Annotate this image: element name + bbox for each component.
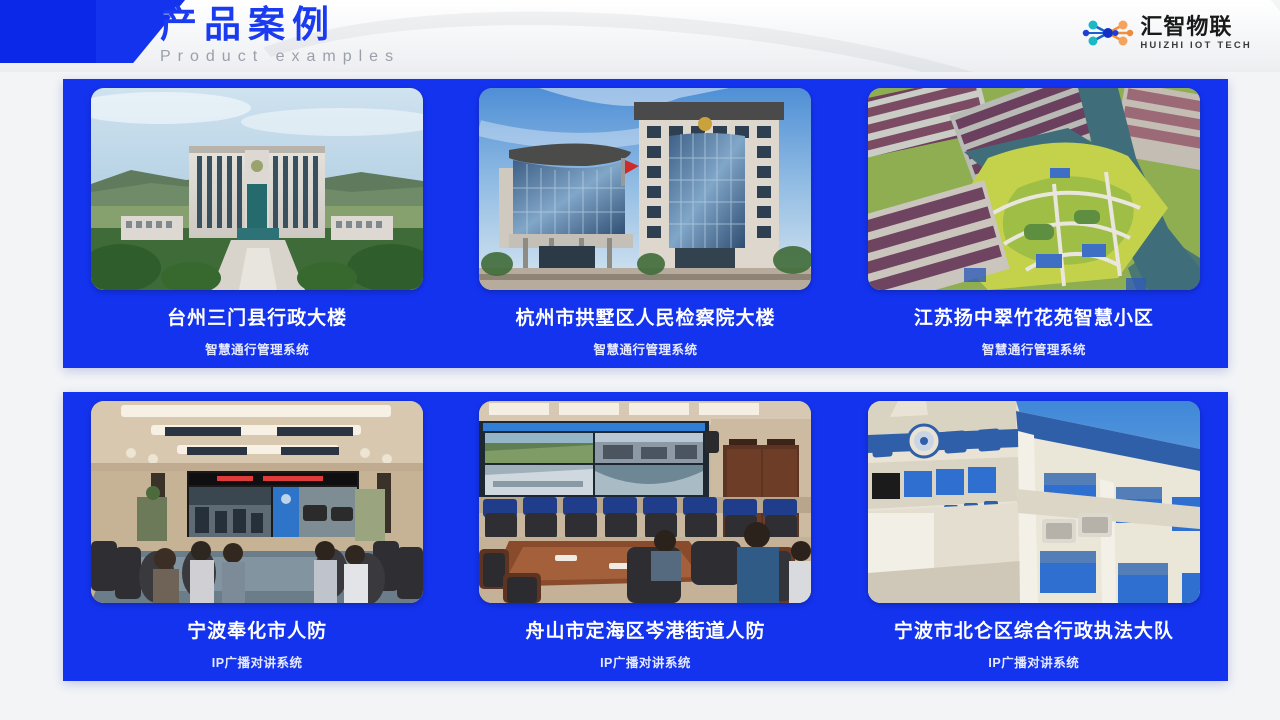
case-card-subtitle: 智慧通行管理系统 [982,339,1086,358]
aerial-residential-district-photo [868,88,1200,290]
case-card-title: 江苏扬中翠竹花苑智慧小区 [914,303,1154,330]
case-card-subtitle: 智慧通行管理系统 [205,339,309,358]
case-card[interactable]: 江苏扬中翠竹花苑智慧小区 智慧通行管理系统 [840,79,1228,368]
molecule-network-icon [1082,14,1134,52]
case-card-title: 宁波市北仑区综合行政执法大队 [894,616,1174,643]
case-card-title: 宁波奉化市人防 [187,616,327,643]
page-title: 产品案例 [160,2,400,48]
header-blue-block [0,0,96,63]
case-card[interactable]: 宁波市北仑区综合行政执法大队 IP广播对讲系统 [840,392,1228,681]
card-list: 台州三门县行政大楼 智慧通行管理系统 [63,79,1228,368]
procuratorate-building-photo [479,88,811,290]
case-card-subtitle: IP广播对讲系统 [600,652,691,671]
conference-room-videowall-photo [91,401,423,603]
case-card[interactable]: 台州三门县行政大楼 智慧通行管理系统 [63,79,451,368]
case-card-title: 台州三门县行政大楼 [167,303,347,330]
panel-row-2: 宁波奉化市人防 IP广播对讲系统 [63,392,1228,681]
case-card-subtitle: IP广播对讲系统 [988,652,1079,671]
brand-logo-text: 汇智物联 HUIZHI IOT TECH [1140,15,1252,52]
slide-header: 产品案例 Product examples [0,0,1280,72]
brand-name-en: HUIZHI IOT TECH [1140,39,1252,52]
header-title-group: 产品案例 Product examples [160,2,400,67]
panel-row-1: 台州三门县行政大楼 智慧通行管理系统 [63,79,1228,368]
case-card-subtitle: IP广播对讲系统 [212,652,303,671]
government-building-photo [91,88,423,290]
case-card-title: 杭州市拱墅区人民检察院大楼 [515,303,775,330]
brand-logo: 汇智物联 HUIZHI IOT TECH [1082,14,1252,52]
case-card-subtitle: 智慧通行管理系统 [593,339,697,358]
law-enforcement-building-photo [868,401,1200,603]
case-card[interactable]: 舟山市定海区岑港街道人防 IP广播对讲系统 [451,392,839,681]
card-list: 宁波奉化市人防 IP广播对讲系统 [63,392,1228,681]
page-subtitle: Product examples [160,47,400,67]
case-card[interactable]: 宁波奉化市人防 IP广播对讲系统 [63,392,451,681]
command-center-photo [479,401,811,603]
brand-name-cn: 汇智物联 [1140,15,1232,39]
case-card-title: 舟山市定海区岑港街道人防 [525,616,765,643]
case-card[interactable]: 杭州市拱墅区人民检察院大楼 智慧通行管理系统 [451,79,839,368]
slide-root: 产品案例 Product examples [0,0,1280,720]
